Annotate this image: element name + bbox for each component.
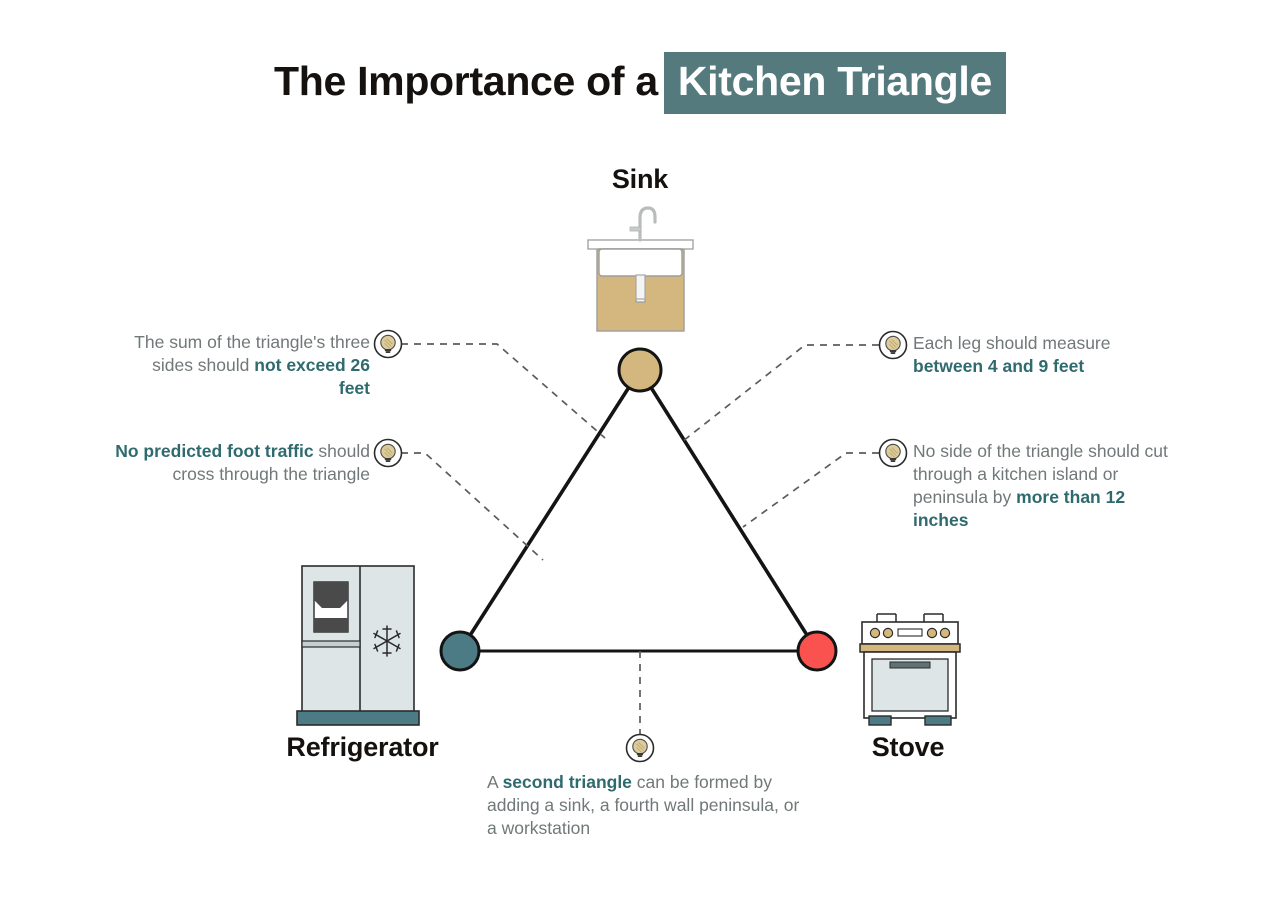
note-sum-of-sides-strong: not exceed 26 feet xyxy=(254,355,370,398)
note-leg-length-strong: between 4 and 9 feet xyxy=(913,356,1084,376)
leader-line-leg-length xyxy=(683,345,879,441)
note-foot-traffic-strong: No predicted foot traffic xyxy=(115,441,313,461)
sink-appliance-icon xyxy=(588,208,693,331)
leader-line-island-cut xyxy=(743,453,879,527)
work-triangle-shape xyxy=(460,370,817,651)
note-sum-of-sides: The sum of the triangle's three sides sh… xyxy=(120,331,370,400)
note-leg-length-lead: Each leg should measure xyxy=(913,333,1110,353)
note-second-triangle: A second triangle can be formed by addin… xyxy=(487,771,807,840)
note-second-triangle-lead: A xyxy=(487,772,503,792)
bulb-icon-island-cut[interactable] xyxy=(880,440,907,467)
stove-node[interactable] xyxy=(798,632,836,670)
leader-line-sum-of-sides xyxy=(401,344,605,438)
sink-node[interactable] xyxy=(619,349,661,391)
note-second-triangle-strong: second triangle xyxy=(503,772,632,792)
refrigerator-appliance-icon xyxy=(297,566,419,725)
note-leg-length: Each leg should measure between 4 and 9 … xyxy=(913,332,1163,378)
bulb-icon-foot-traffic[interactable] xyxy=(375,440,402,467)
note-foot-traffic: No predicted foot traffic should cross t… xyxy=(110,440,370,486)
bulb-icon-second-triangle[interactable] xyxy=(627,735,654,762)
leader-line-foot-traffic xyxy=(401,453,543,560)
bulb-icon-leg-length[interactable] xyxy=(880,332,907,359)
stove-appliance-icon xyxy=(860,614,960,725)
refrigerator-node[interactable] xyxy=(441,632,479,670)
leader-lines xyxy=(401,344,879,734)
bulb-icon-sum-of-sides[interactable] xyxy=(375,331,402,358)
note-island-cut: No side of the triangle should cut throu… xyxy=(913,440,1183,532)
